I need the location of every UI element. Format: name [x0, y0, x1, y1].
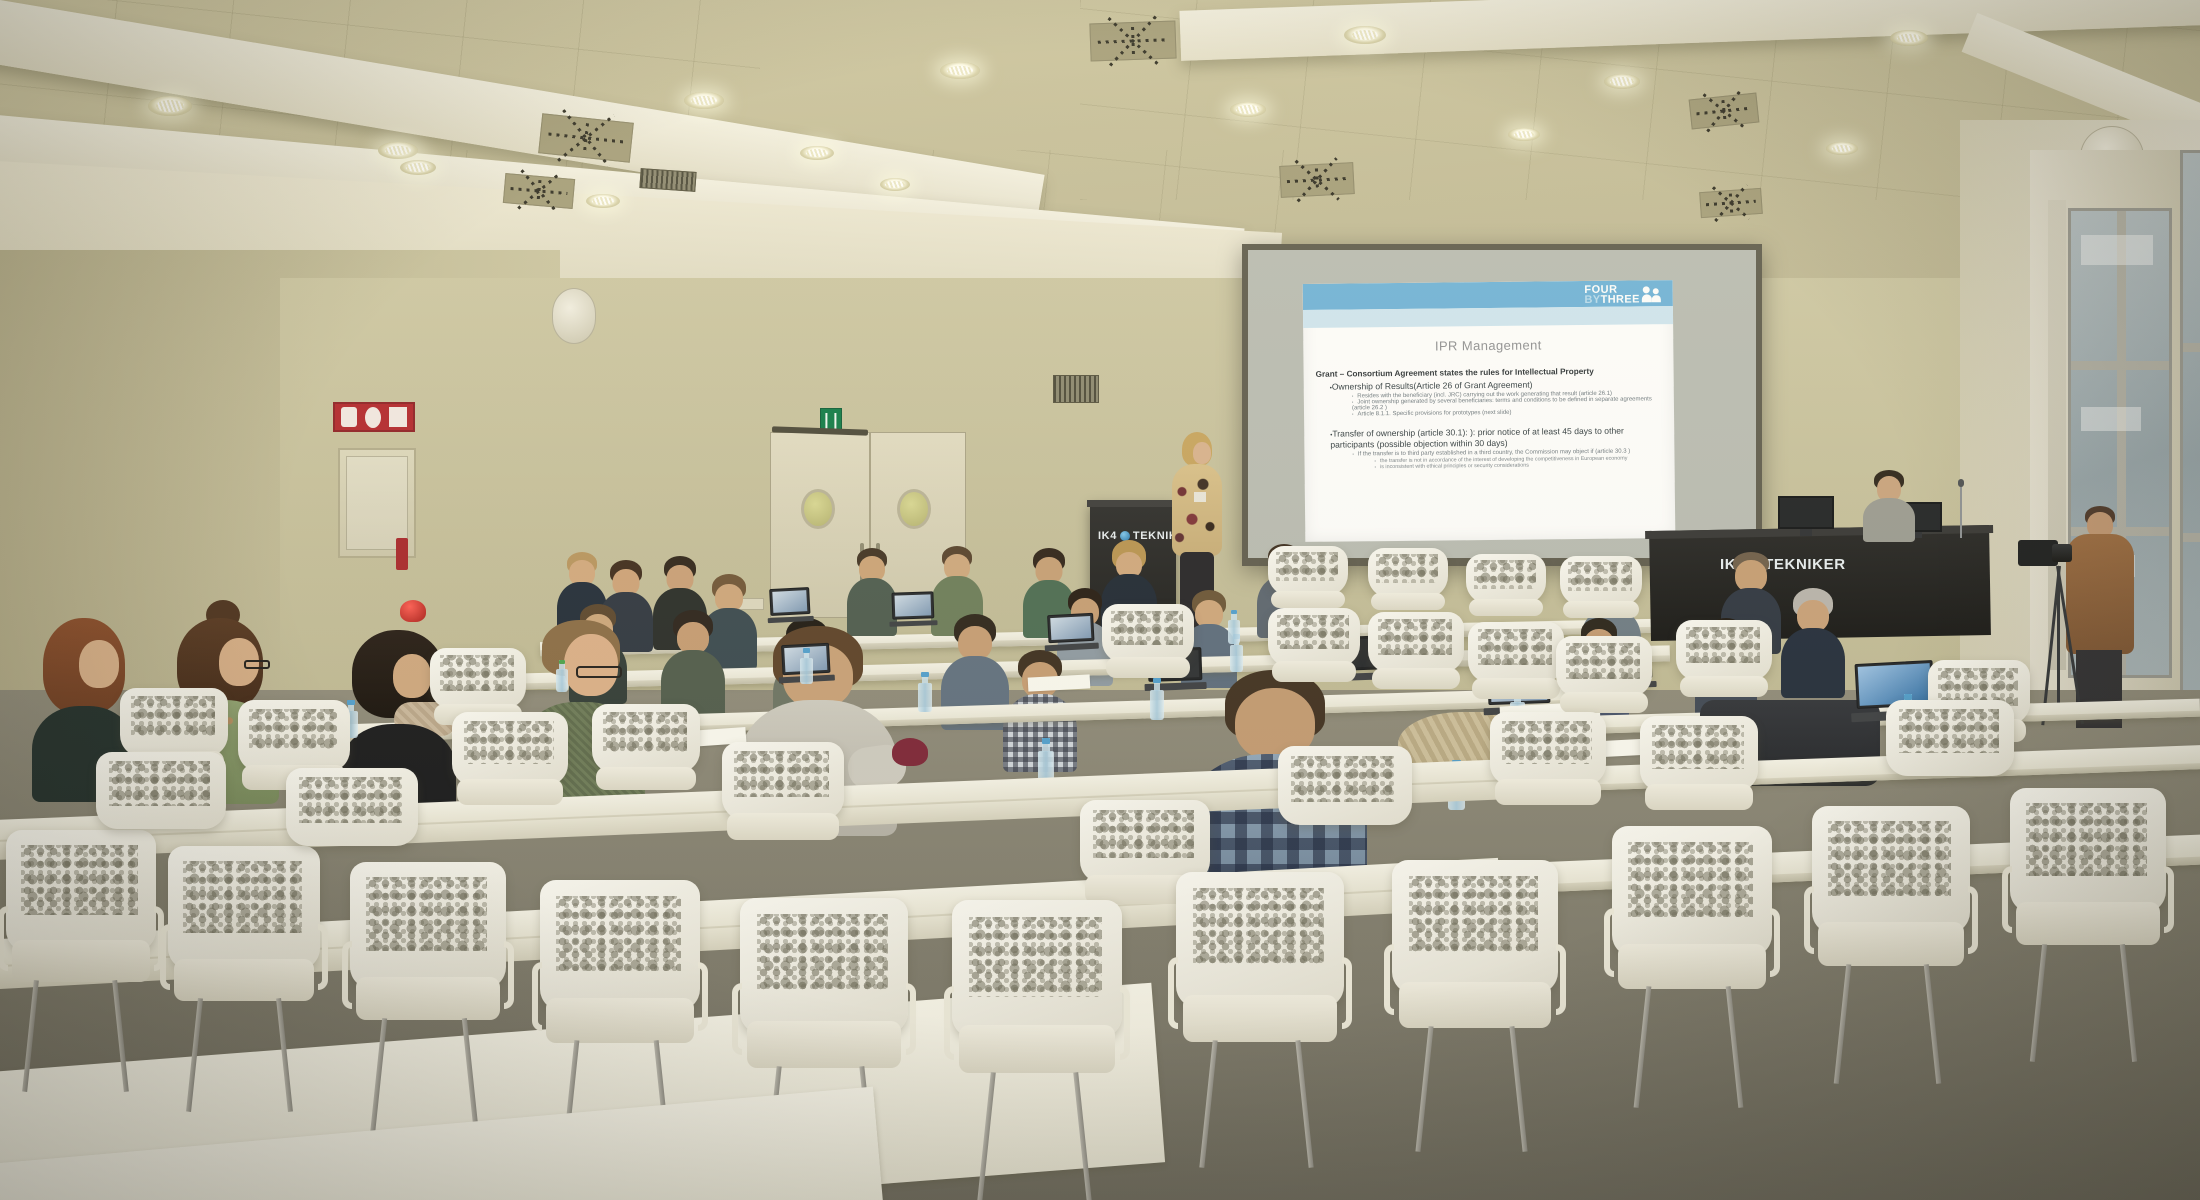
cabinet-glass	[346, 456, 408, 550]
chair-foreground[interactable]	[540, 880, 700, 1084]
monitor-av-left	[1778, 496, 1834, 536]
ceiling-downlight	[400, 160, 436, 175]
chair[interactable]	[1560, 556, 1642, 634]
ceiling-downlight	[1508, 128, 1540, 141]
water-bottle[interactable]	[1228, 610, 1240, 644]
camera-lens	[2052, 544, 2072, 562]
chair-foreground[interactable]	[952, 900, 1122, 1116]
door-porthole	[897, 489, 931, 529]
water-bottle[interactable]	[556, 660, 568, 692]
ceiling-downlight	[148, 96, 192, 116]
audience-member	[1780, 588, 1846, 696]
lanyard	[1194, 492, 1206, 502]
chair[interactable]	[592, 704, 700, 812]
window-mullion-horizontal	[2183, 343, 2200, 352]
window-glare	[2081, 407, 2141, 431]
ceiling-downlight	[1604, 74, 1640, 89]
chair[interactable]	[1368, 548, 1448, 626]
chair[interactable]	[1490, 712, 1606, 828]
chair[interactable]	[722, 742, 844, 864]
chair-foreground[interactable]	[740, 898, 908, 1110]
ceiling-downlight	[1826, 142, 1858, 155]
chair-foreground-rear[interactable]	[286, 768, 418, 890]
wall-air-vent	[1053, 375, 1099, 403]
chair[interactable]	[1466, 554, 1546, 632]
chair[interactable]	[1676, 620, 1772, 716]
chair-foreground[interactable]	[1176, 872, 1344, 1084]
head	[1193, 442, 1211, 464]
gooseneck-microphone	[1960, 484, 1962, 538]
projection-screen-surface: FOUR BYTHREE IPR Management Grant – Cons…	[1248, 250, 1756, 558]
laptop[interactable]	[1047, 613, 1095, 651]
chair-foreground-rear[interactable]	[96, 752, 226, 872]
ceiling-downlight	[1890, 30, 1928, 46]
chair[interactable]	[452, 712, 568, 828]
ceiling-downlight	[880, 178, 910, 191]
slide-bullet-l1: •Transfer of ownership (article 30.1): )…	[1330, 425, 1660, 450]
camera-dslr[interactable]	[2018, 540, 2058, 566]
ceiling-downlight	[1230, 102, 1266, 117]
water-bottle[interactable]	[918, 672, 932, 712]
ceiling-downlight	[378, 142, 418, 159]
glasses-icon	[576, 666, 622, 678]
maroon-cap	[892, 738, 928, 766]
slide-body: Grant – Consortium Agreement states the …	[1316, 366, 1665, 470]
presentation-slide: FOUR BYTHREE IPR Management Grant – Cons…	[1303, 280, 1676, 542]
chair-foreground-rear[interactable]	[1886, 700, 2014, 818]
alarm-strobe	[400, 600, 426, 622]
wall-air-vent	[639, 168, 696, 192]
ceiling-downlight	[1344, 26, 1386, 44]
door-porthole	[801, 489, 835, 529]
torso	[1863, 498, 1915, 542]
seated-panelist	[1862, 470, 1916, 540]
slide-brand-band-light	[1303, 306, 1673, 328]
logo-line-three: THREE	[1600, 294, 1639, 306]
chair[interactable]	[1468, 622, 1564, 718]
ceiling-air-diffuser	[503, 173, 575, 209]
fire-equipment-sign	[333, 402, 415, 432]
chair[interactable]	[1640, 716, 1758, 834]
ceiling-downlight	[940, 62, 980, 79]
chair[interactable]	[1268, 546, 1348, 624]
laptop[interactable]	[769, 587, 811, 623]
slide-heading: Grant – Consortium Agreement states the …	[1316, 366, 1664, 379]
water-bottle[interactable]	[800, 648, 813, 684]
ceiling-air-diffuser	[1089, 21, 1176, 62]
chair-foreground[interactable]	[1612, 826, 1772, 1030]
window-glare	[2081, 235, 2153, 265]
window-mullion-horizontal	[2183, 533, 2200, 542]
four-by-three-logo: FOUR BYTHREE	[1584, 284, 1663, 305]
chair[interactable]	[1368, 612, 1464, 708]
chair[interactable]	[1102, 604, 1194, 696]
slide-title: IPR Management	[1303, 336, 1673, 355]
audience-member	[660, 610, 726, 718]
window-far-right	[2180, 150, 2200, 710]
ceiling-downlight	[586, 194, 620, 208]
ceiling-air-diffuser	[1279, 162, 1355, 198]
ceiling-downlight	[684, 92, 724, 109]
chair-foreground[interactable]	[350, 862, 506, 1060]
logo-line-by: BY	[1584, 294, 1600, 306]
chair-foreground-rear[interactable]	[1278, 746, 1412, 870]
chair-foreground[interactable]	[1812, 806, 1970, 1006]
chair-foreground[interactable]	[2010, 788, 2166, 984]
laptop[interactable]	[891, 591, 934, 626]
floral-jacket	[1172, 464, 1222, 556]
ceiling-downlight	[800, 146, 834, 160]
people-icon	[1643, 286, 1663, 302]
glasses-icon	[244, 660, 270, 669]
chair-foreground[interactable]	[1392, 860, 1558, 1070]
ceiling-air-diffuser	[1699, 188, 1763, 218]
slide-bullet-l1: •Ownership of Results(Article 26 of Gran…	[1330, 378, 1664, 391]
fire-extinguisher	[396, 538, 408, 570]
wall-speaker	[552, 288, 596, 344]
conference-room-photo: FOUR BYTHREE IPR Management Grant – Cons…	[0, 0, 2200, 1200]
